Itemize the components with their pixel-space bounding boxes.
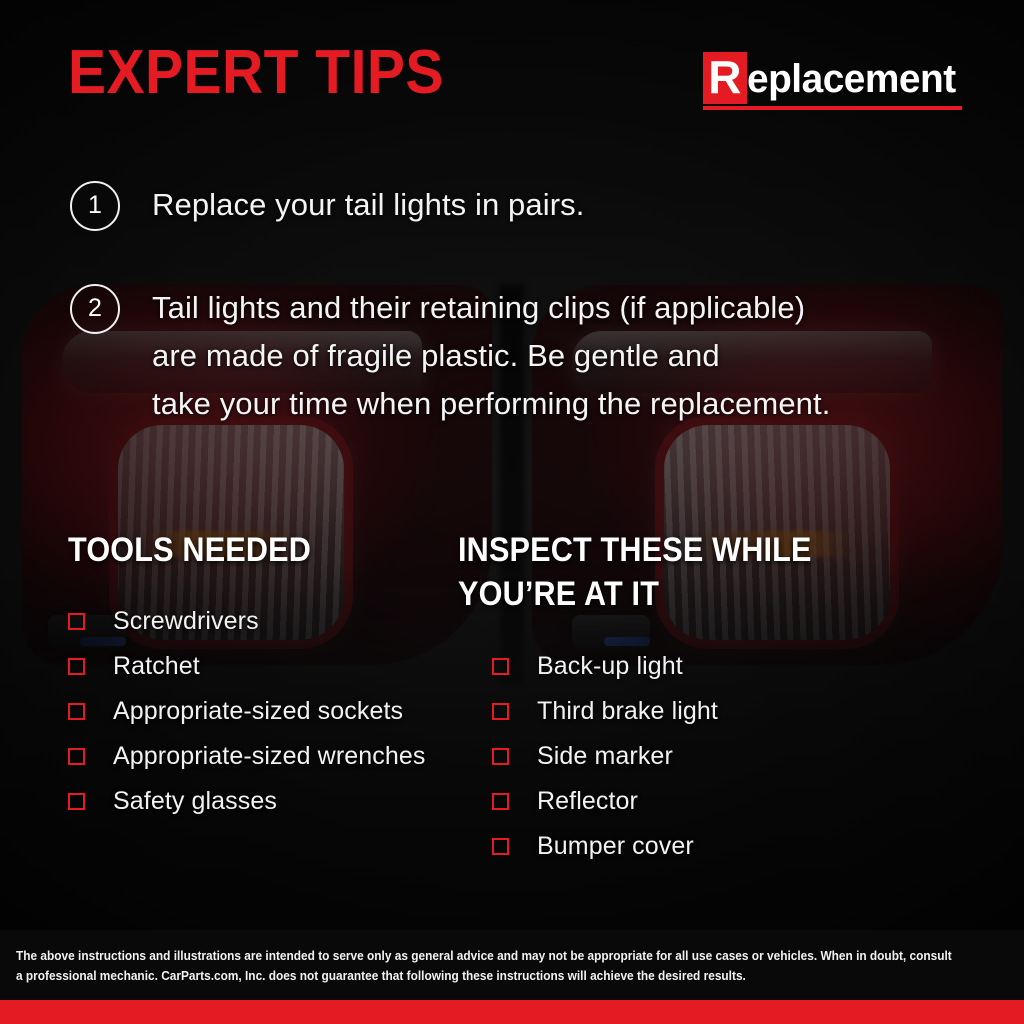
page-title: EXPERT TIPS [68,42,444,104]
list-item: Appropriate-sized sockets [68,689,425,734]
logo-initial: R [703,52,747,104]
list-item-label: Appropriate-sized sockets [113,697,403,726]
tip-text-1: Replace your tail lights in pairs. [152,181,584,229]
disclaimer-text: The above instructions and illustrations… [16,946,958,986]
tip-text-2: Tail lights and their retaining clips (i… [152,284,830,428]
expert-tips-card: EXPERT TIPS R eplacement 1 Replace your … [0,0,1024,1024]
checkbox-icon [68,748,85,765]
checkbox-icon [492,658,509,675]
replacement-logo: R eplacement [703,52,962,110]
list-item: Bumper cover [492,824,718,869]
inspect-these-heading: INSPECT THESE WHILE YOU’RE AT IT [458,528,812,616]
logo-underline [703,106,962,110]
list-item-label: Safety glasses [113,787,277,816]
list-item-label: Ratchet [113,652,200,681]
inspect-these-list: Back-up light Third brake light Side mar… [492,644,718,869]
list-item: Third brake light [492,689,718,734]
footer: The above instructions and illustrations… [0,930,1024,1024]
list-item-label: Reflector [537,787,638,816]
tip-item-1: 1 Replace your tail lights in pairs. [70,181,584,231]
tip-item-2: 2 Tail lights and their retaining clips … [70,284,830,428]
list-item-label: Back-up light [537,652,683,681]
checkbox-icon [492,838,509,855]
checkbox-icon [492,793,509,810]
checkbox-icon [68,793,85,810]
list-item: Reflector [492,779,718,824]
checkbox-icon [492,703,509,720]
list-item-label: Bumper cover [537,832,694,861]
list-item: Back-up light [492,644,718,689]
list-item: Screwdrivers [68,599,425,644]
list-item-label: Appropriate-sized wrenches [113,742,425,771]
tools-needed-heading: TOOLS NEEDED [68,528,311,572]
bottom-red-bar [0,1000,1024,1024]
checkbox-icon [68,613,85,630]
tools-needed-list: Screwdrivers Ratchet Appropriate-sized s… [68,599,425,824]
list-item: Side marker [492,734,718,779]
list-item-label: Screwdrivers [113,607,259,636]
list-item: Appropriate-sized wrenches [68,734,425,779]
tip-number-badge-1: 1 [70,181,120,231]
list-item-label: Side marker [537,742,673,771]
checkbox-icon [68,703,85,720]
checkbox-icon [492,748,509,765]
disclaimer-band: The above instructions and illustrations… [0,930,1024,1000]
list-item: Ratchet [68,644,425,689]
checkbox-icon [68,658,85,675]
list-item: Safety glasses [68,779,425,824]
logo-word: eplacement [747,54,956,104]
tip-number-badge-2: 2 [70,284,120,334]
list-item-label: Third brake light [537,697,718,726]
